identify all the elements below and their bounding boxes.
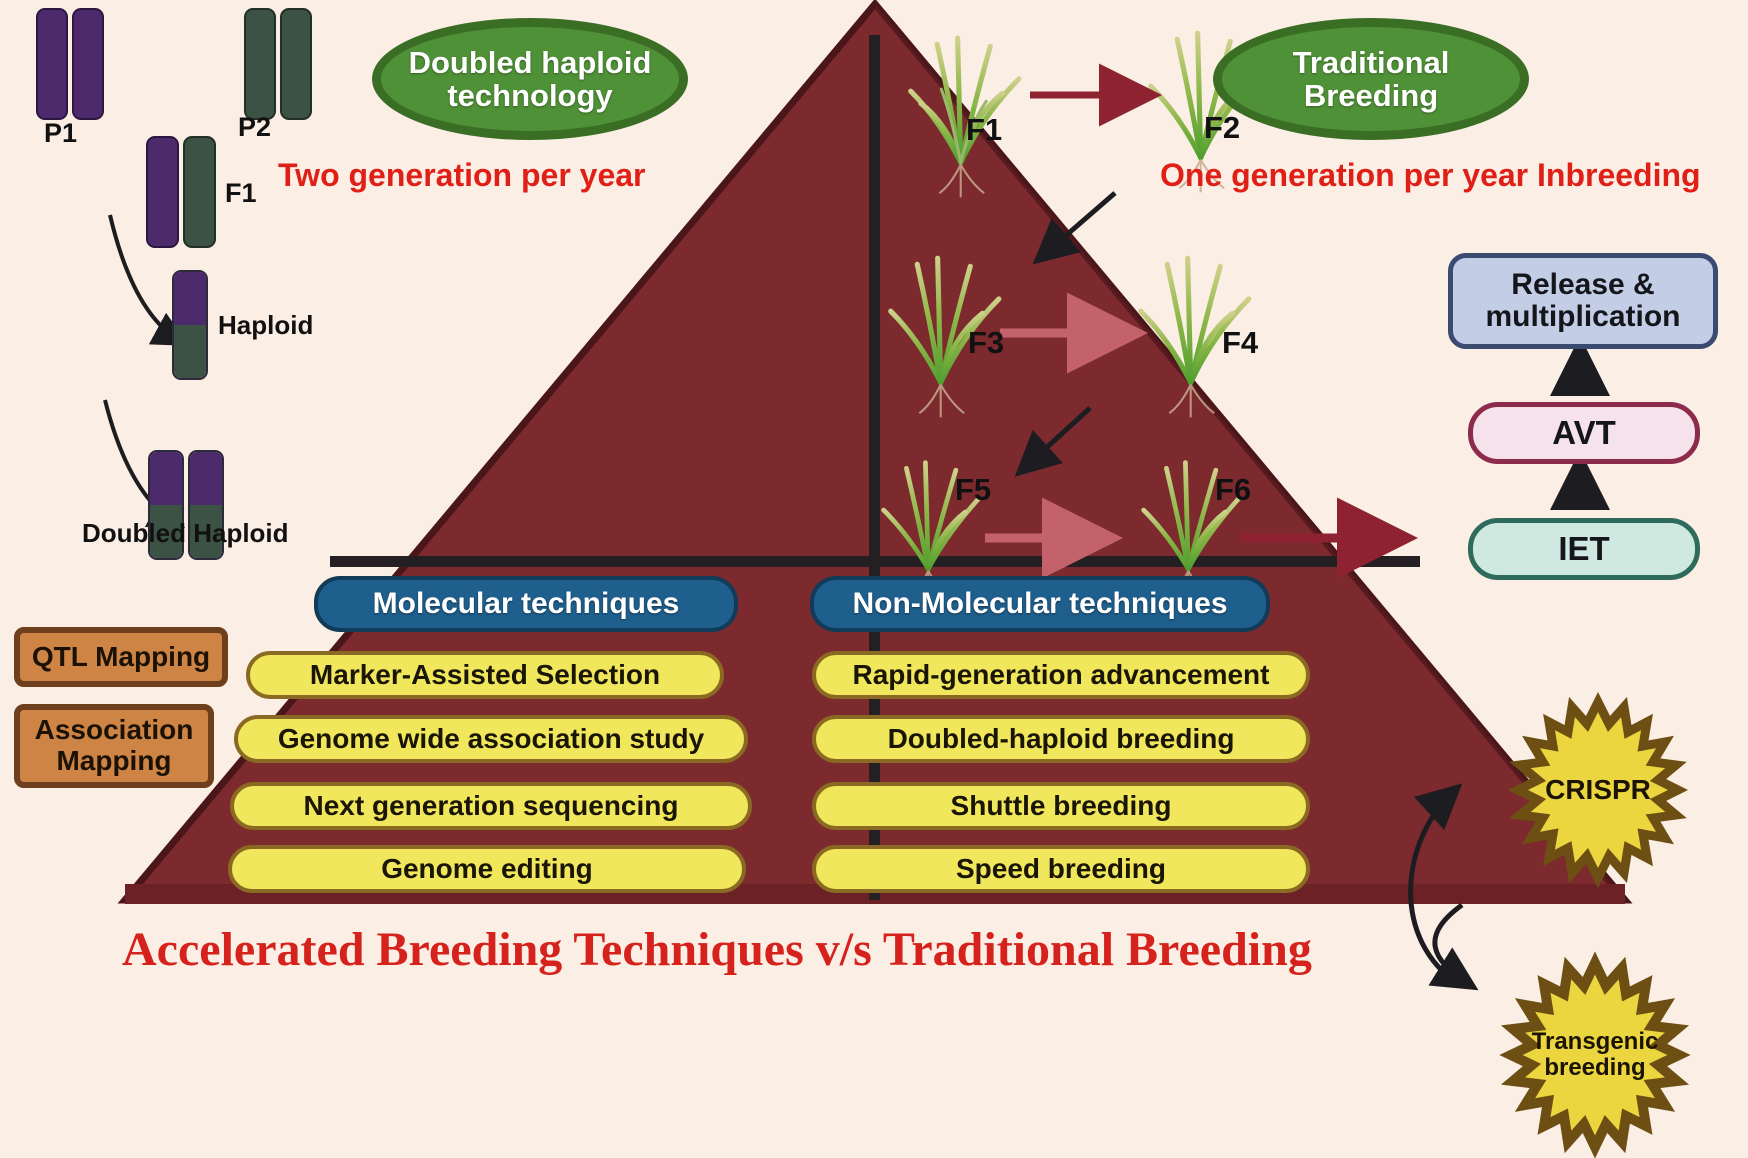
non-molecular-header-label: Non-Molecular techniques [852,587,1227,621]
molecular-item-0-label: Marker-Assisted Selection [310,659,660,691]
plant-label-f3: F3 [968,325,1004,361]
label-f1-cross: F1 [225,178,257,209]
burst-transgenic-breeding[interactable]: Transgenic breeding [1511,975,1679,1135]
arrow-to-transgenic [1435,905,1470,985]
plant-label-f1: F1 [966,112,1002,148]
technique-pill-shuttle-breeding[interactable]: Shuttle breeding [812,782,1310,830]
iet-label: IET [1558,531,1609,567]
release-line1: Release & [1511,268,1654,301]
oval-left-line1: Doubled haploid [409,45,652,80]
oval-right-line1: Traditional [1293,45,1450,80]
transgenic-line2: breeding [1544,1054,1645,1081]
release-line2: multiplication [1486,300,1681,333]
arrow-f2-to-f3 [1040,193,1115,258]
arrow-f4-to-f5 [1022,408,1090,470]
label-doubled-haploid: Doubled Haploid [82,518,289,549]
molecular-item-1-label: Genome wide association study [278,723,704,755]
technique-pill-rapid-generation-advancement[interactable]: Rapid-generation advancement [812,651,1310,699]
footer-title: Accelerated Breeding Techniques v/s Trad… [122,922,1312,977]
technique-pill-doubled-haploid-breeding[interactable]: Doubled-haploid breeding [812,715,1310,763]
non-molecular-item-3-label: Speed breeding [956,853,1166,885]
center-divider [869,35,880,900]
flow-box-avt[interactable]: AVT [1468,402,1700,464]
plant-label-f6: F6 [1215,472,1251,508]
section-divider [330,556,1420,567]
oval-doubled-haploid-technology: Doubled haploid technology [372,18,688,140]
burst-crispr[interactable]: CRISPR [1518,712,1678,868]
transgenic-line1: Transgenic [1532,1028,1659,1055]
oval-left-line2: technology [447,78,612,113]
molecular-item-2-label: Next generation sequencing [304,790,679,822]
flow-box-release-multiplication[interactable]: Release & multiplication [1448,253,1718,349]
qtl-mapping-label: QTL Mapping [32,642,210,673]
plant-label-f2: F2 [1204,110,1240,146]
technique-pill-gwas[interactable]: Genome wide association study [234,715,748,763]
label-p2: P2 [238,112,271,143]
oval-right-line2: Breeding [1304,78,1438,113]
flow-box-iet[interactable]: IET [1468,518,1700,580]
arrow-to-crispr [1411,790,1460,985]
header-non-molecular-techniques[interactable]: Non-Molecular techniques [810,576,1270,632]
side-box-qtl-mapping[interactable]: QTL Mapping [14,627,228,687]
chromosome-f1-green [183,136,216,248]
chromosome-haploid [172,270,208,380]
plant-label-f4: F4 [1222,325,1258,361]
note-two-generation-per-year: Two generation per year [278,157,646,194]
label-haploid: Haploid [218,310,313,341]
technique-pill-marker-assisted-selection[interactable]: Marker-Assisted Selection [246,651,724,699]
chromosome-p2-a [244,8,276,120]
plant-label-f5: F5 [955,472,991,508]
molecular-header-label: Molecular techniques [373,587,680,621]
avt-label: AVT [1552,415,1616,451]
non-molecular-item-1-label: Doubled-haploid breeding [888,723,1235,755]
non-molecular-item-2-label: Shuttle breeding [951,790,1172,822]
side-box-association-mapping[interactable]: Association Mapping [14,704,214,788]
non-molecular-item-0-label: Rapid-generation advancement [853,659,1270,691]
chromosome-p1-a [36,8,68,120]
oval-traditional-breeding: Traditional Breeding [1213,18,1529,140]
header-molecular-techniques[interactable]: Molecular techniques [314,576,738,632]
chromosome-p1-b [72,8,104,120]
crispr-label: CRISPR [1545,775,1651,805]
association-line1: Association [35,714,194,745]
molecular-item-3-label: Genome editing [381,853,593,885]
technique-pill-genome-editing[interactable]: Genome editing [228,845,746,893]
chromosome-p2-b [280,8,312,120]
chromosome-f1-purple [146,136,179,248]
technique-pill-speed-breeding[interactable]: Speed breeding [812,845,1310,893]
association-line2: Mapping [56,745,171,776]
diagram-canvas: P1 P2 F1 Haploid Doubled Haploid Doubled… [0,0,1748,1158]
note-one-generation-per-year: One generation per year Inbreeding [1160,157,1701,194]
label-p1: P1 [44,118,77,149]
technique-pill-next-generation-sequencing[interactable]: Next generation sequencing [230,782,752,830]
plant-f1 [911,38,1019,197]
